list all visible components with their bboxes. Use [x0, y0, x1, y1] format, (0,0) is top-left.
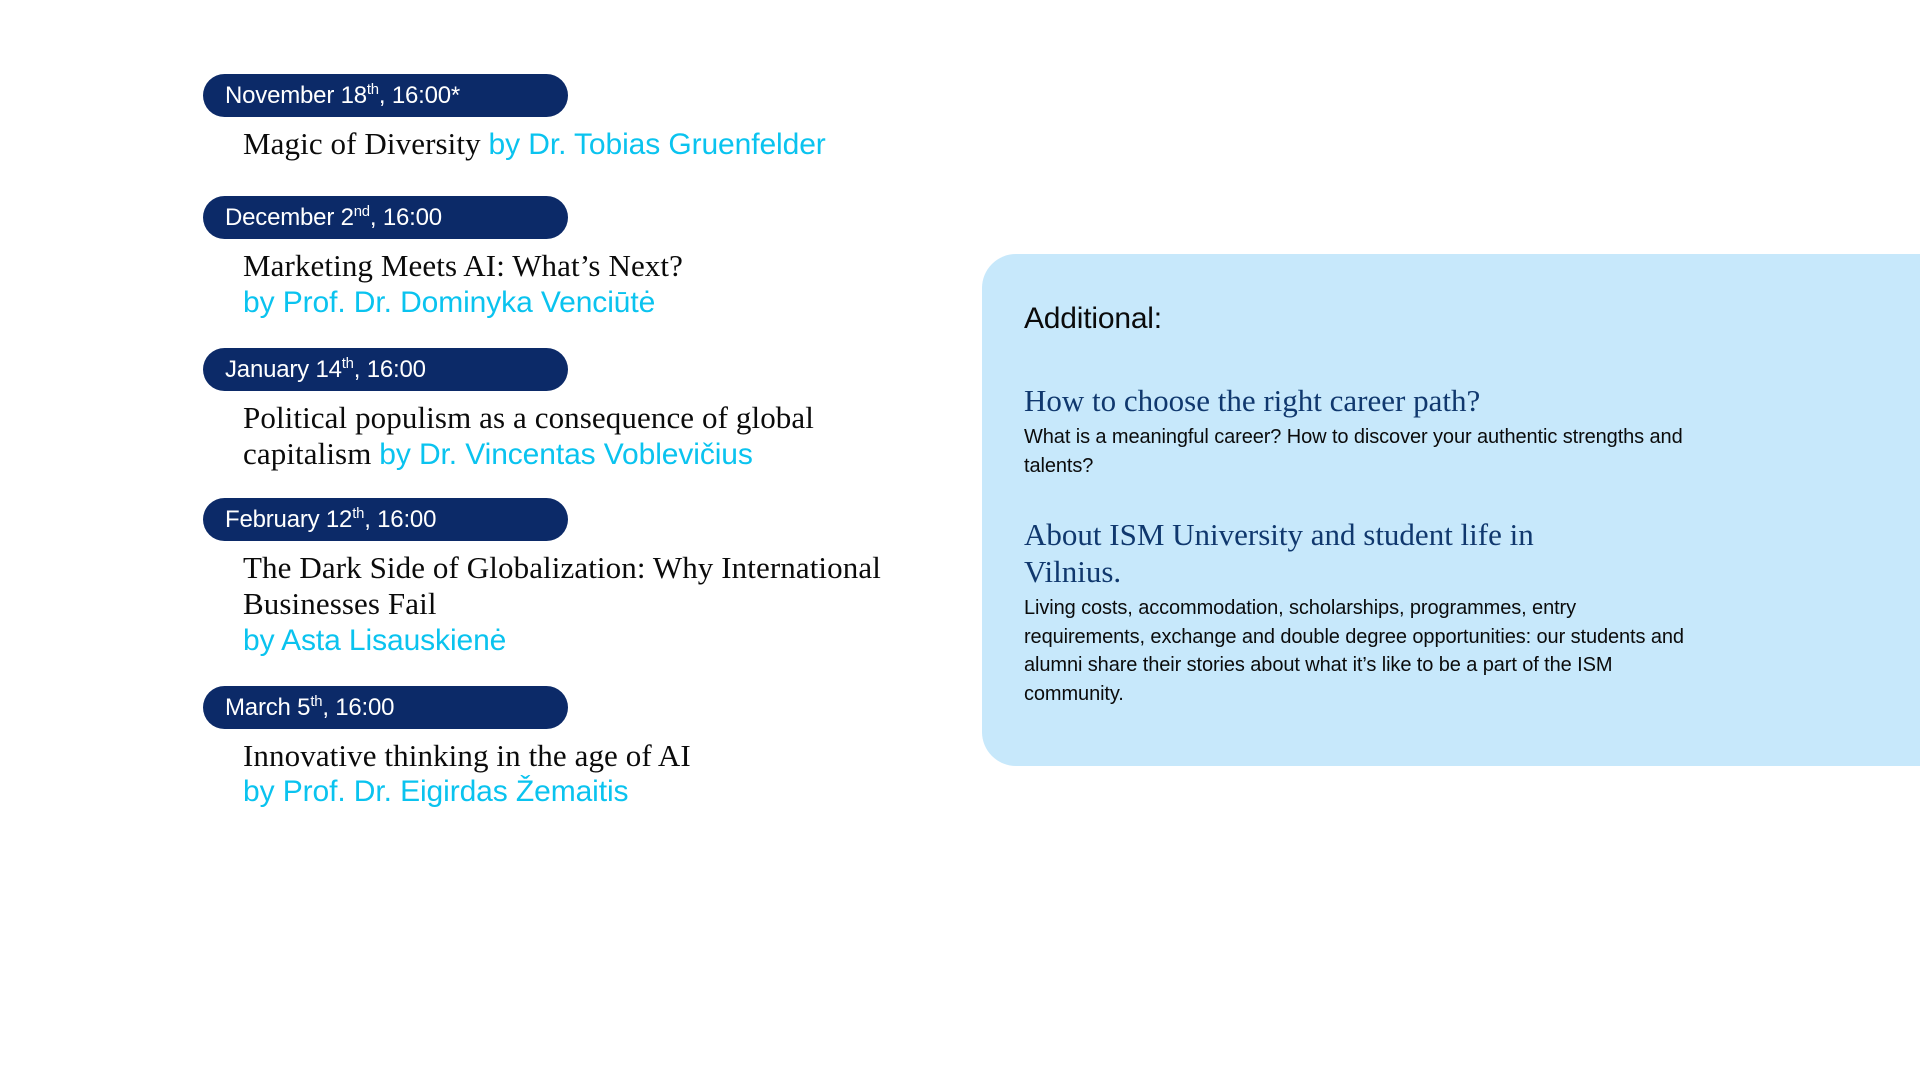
date-day: 2: [341, 204, 354, 231]
date-time: , 16:00: [364, 506, 436, 533]
lecture-speaker: by Dr. Vincentas Voblevičius: [379, 438, 753, 471]
lecture-speaker: by Prof. Dr. Dominyka Venciūtė: [243, 285, 943, 320]
additional-topic-title: How to choose the right career path?: [1024, 382, 1624, 419]
entry-body: Marketing Meets AI: What’s Next?by Prof.…: [203, 248, 943, 319]
entry-body: The Dark Side of Globalization: Why Inte…: [203, 550, 943, 658]
date-day: 12: [326, 506, 352, 533]
additional-topic-description: Living costs, accommodation, scholarship…: [1024, 594, 1696, 708]
date-month: December: [225, 204, 341, 231]
date-ordinal-suffix: nd: [354, 204, 370, 220]
schedule-entry: November 18th, 16:00* Magic of Diversity…: [203, 74, 943, 162]
lecture-title: Innovative thinking in the age of AI: [243, 738, 691, 773]
additional-topic-title: About ISM University and student life in…: [1024, 516, 1624, 590]
date-badge-february: February 12th, 16:00: [203, 498, 568, 541]
date-day: 18: [341, 82, 367, 109]
date-time: , 16:00*: [379, 82, 460, 109]
schedule-entry: January 14th, 16:00 Political populism a…: [203, 348, 943, 473]
additional-topic: How to choose the right career path? Wha…: [1024, 382, 1860, 480]
lecture-speaker: by Asta Lisauskienė: [243, 623, 943, 658]
lecture-speaker: by Prof. Dr. Eigirdas Žemaitis: [243, 774, 943, 809]
date-ordinal-suffix: th: [342, 356, 354, 372]
date-time: , 16:00: [322, 694, 394, 721]
additional-topic: About ISM University and student life in…: [1024, 516, 1860, 708]
date-month: January: [225, 356, 315, 383]
date-month: March: [225, 694, 297, 721]
lecture-schedule-list: November 18th, 16:00* Magic of Diversity…: [203, 74, 943, 809]
date-day: 14: [315, 356, 341, 383]
additional-panel-heading: Additional:: [1024, 302, 1860, 336]
schedule-entry: December 2nd, 16:00 Marketing Meets AI: …: [203, 196, 943, 319]
additional-topic-description: What is a meaningful career? How to disc…: [1024, 423, 1696, 480]
date-time: , 16:00: [370, 204, 442, 231]
date-badge-january: January 14th, 16:00: [203, 348, 568, 391]
lecture-title: The Dark Side of Globalization: Why Inte…: [243, 550, 881, 621]
date-ordinal-suffix: th: [352, 506, 364, 522]
date-time: , 16:00: [354, 356, 426, 383]
date-ordinal-suffix: th: [310, 694, 322, 710]
schedule-entry: February 12th, 16:00 The Dark Side of Gl…: [203, 498, 943, 658]
date-ordinal-suffix: th: [367, 82, 379, 98]
lecture-speaker: by Dr. Tobias Gruenfelder: [489, 128, 826, 161]
date-badge-november: November 18th, 16:00*: [203, 74, 568, 117]
entry-body: Innovative thinking in the age of AIby P…: [203, 738, 943, 809]
date-month: February: [225, 506, 326, 533]
entry-body: Magic of Diversity by Dr. Tobias Gruenfe…: [203, 126, 943, 162]
date-badge-december: December 2nd, 16:00: [203, 196, 568, 239]
date-badge-march: March 5th, 16:00: [203, 686, 568, 729]
additional-info-panel: Additional: How to choose the right care…: [982, 254, 1920, 766]
date-month: November: [225, 82, 341, 109]
lecture-title: Marketing Meets AI: What’s Next?: [243, 248, 683, 283]
date-day: 5: [297, 694, 310, 721]
lecture-title: Magic of Diversity: [243, 126, 489, 161]
entry-body: Political populism as a consequence of g…: [203, 400, 943, 473]
schedule-entry: March 5th, 16:00 Innovative thinking in …: [203, 686, 943, 809]
